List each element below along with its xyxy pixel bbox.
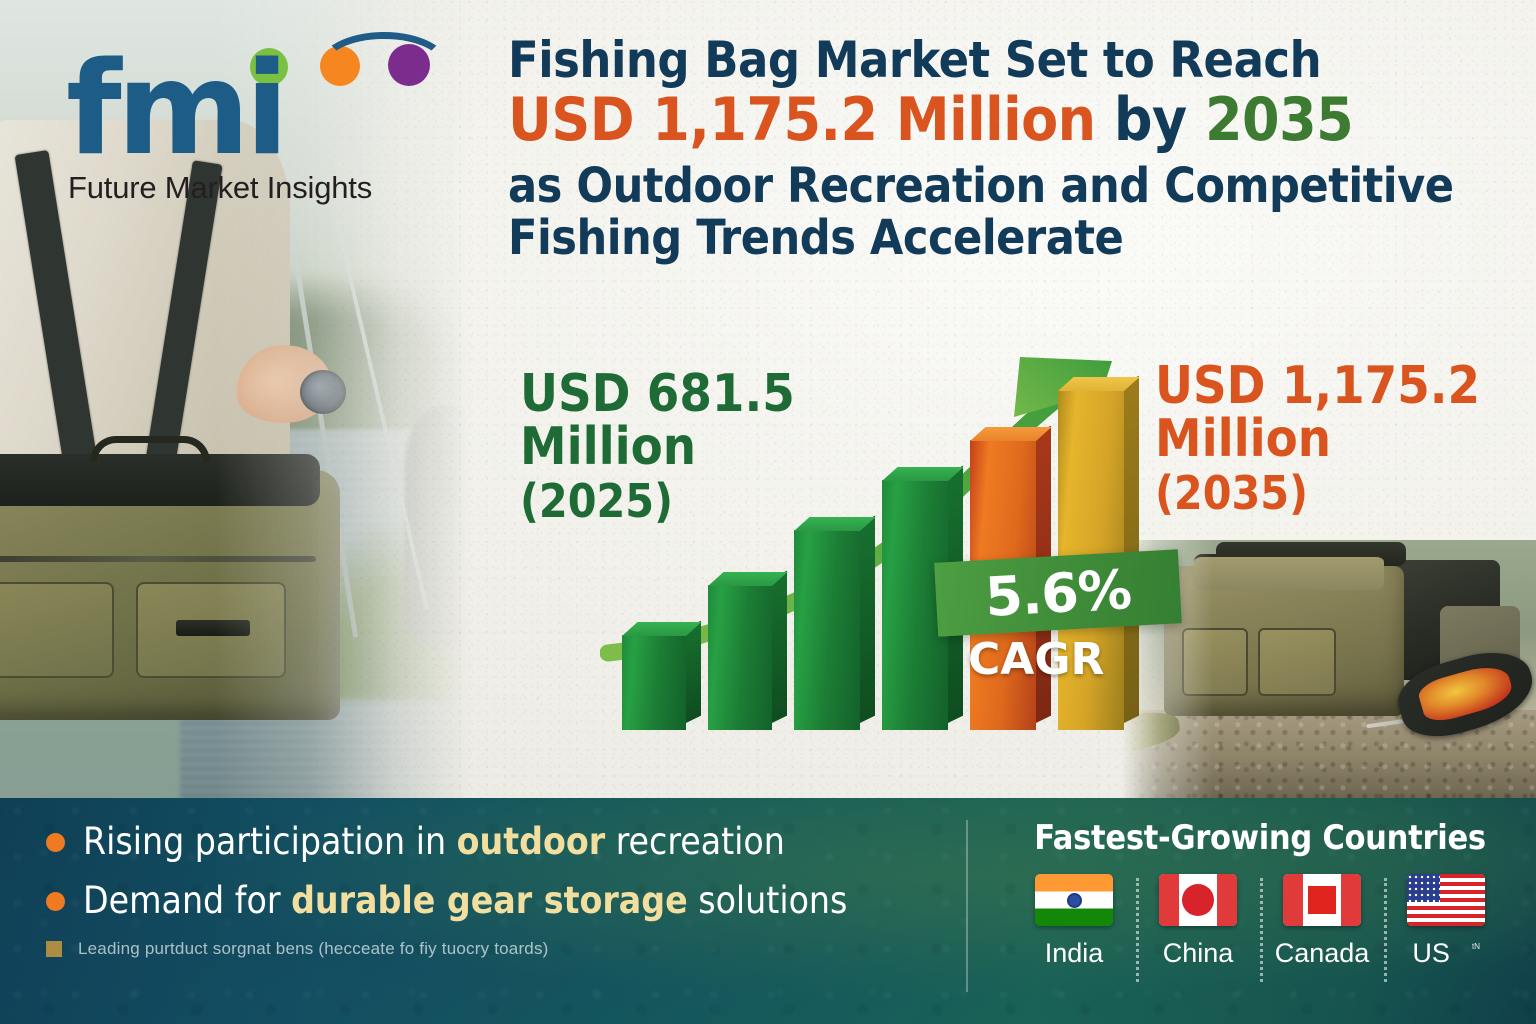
- key-drivers-list: Rising participation in outdoor recreati…: [46, 822, 946, 959]
- logo-subtitle: Future Market Insights: [68, 170, 372, 206]
- bar-face: [794, 530, 860, 730]
- country-label: India: [1045, 938, 1104, 969]
- bullet-1-highlight: outdoor: [457, 820, 606, 863]
- countries-title: Fastest-Growing Countries: [996, 818, 1524, 858]
- tackle-bag-lid: [1194, 554, 1384, 590]
- bullet-2-lead: Demand for: [83, 879, 291, 922]
- tackle-bag-handle: [90, 436, 210, 462]
- flag-emblem-icon: [1308, 886, 1336, 914]
- bullet-text: Rising participation in outdoor recreati…: [83, 822, 785, 863]
- bar-side: [772, 571, 787, 723]
- country-india[interactable]: India: [1012, 874, 1136, 969]
- fishing-reel-icon: [300, 370, 346, 414]
- country-label: USᵗᴺ: [1412, 938, 1479, 969]
- bar-2027: [708, 585, 772, 730]
- flag-bar-left: [1159, 874, 1179, 926]
- headline-block: Fishing Bag Market Set to Reach USD 1,17…: [508, 34, 1498, 264]
- china-flag-icon: [1159, 874, 1237, 926]
- bar-2025: [622, 635, 686, 730]
- fastest-growing-countries: Fastest-Growing Countries India China: [996, 818, 1524, 969]
- country-china[interactable]: China: [1136, 874, 1260, 969]
- bar-face: [622, 635, 686, 730]
- cagr-banner: 5.6%: [934, 549, 1182, 637]
- bullet-2-tail: solutions: [688, 879, 848, 922]
- ashoka-chakra-icon: [1067, 893, 1082, 908]
- lure-graphic: [1416, 660, 1516, 726]
- tackle-bag-pocket: [1258, 628, 1336, 696]
- headline-line-2: USD 1,175.2 Million by 2035: [508, 89, 1498, 153]
- country-label-text: US: [1412, 938, 1450, 968]
- photo-main-tackle-bag: [1164, 566, 1404, 716]
- bullet-text: Demand for durable gear storage solution…: [83, 881, 847, 922]
- bottom-band: Rising participation in outdoor recreati…: [0, 798, 1536, 1024]
- end-value-callout: USD 1,175.2 Million (2035): [1155, 360, 1505, 517]
- bullet-1-lead: Rising participation in: [83, 820, 457, 863]
- end-value-amount: USD 1,175.2: [1155, 356, 1480, 416]
- bar-side: [1124, 376, 1139, 723]
- logo-arc-icon: [318, 32, 450, 102]
- canada-flag-icon: [1283, 874, 1361, 926]
- tackle-bag-zipper: [0, 556, 316, 562]
- photo-tackle-bag: [0, 470, 340, 720]
- footnote-item: Leading purtduct sorgnat bens (hecceate …: [46, 939, 946, 959]
- flag-bar-left: [1283, 874, 1303, 926]
- us-flag-icon: [1407, 874, 1485, 926]
- photo-background-angler: [405, 405, 470, 645]
- flag-emblem-icon: [1185, 887, 1211, 913]
- flag-bar-right: [1217, 874, 1237, 926]
- footnote-square-icon: [46, 941, 62, 957]
- bar-2029: [794, 530, 860, 730]
- fmi-logo[interactable]: fmi Future Market Insights: [60, 22, 450, 208]
- footnote-text: Leading purtduct sorgnat bens (hecceate …: [78, 939, 549, 959]
- bullet-dot-icon: [46, 892, 65, 911]
- tackle-bag-pocket: [0, 582, 114, 678]
- bar-side: [860, 516, 875, 723]
- flag-bar-right: [1341, 874, 1361, 926]
- cagr-label: CAGR: [968, 634, 1104, 685]
- bar-side: [686, 621, 701, 723]
- infographic-root: fmi Future Market Insights Fishing Bag M…: [0, 0, 1536, 1024]
- logo-wordmark: fmi: [66, 46, 284, 174]
- section-divider: [966, 820, 968, 992]
- headline-connector: by: [1114, 85, 1187, 155]
- end-value-year: (2035): [1155, 470, 1505, 517]
- country-us[interactable]: USᵗᴺ: [1384, 874, 1508, 969]
- headline-value: USD 1,175.2 Million: [508, 85, 1096, 155]
- country-label: Canada: [1275, 938, 1370, 969]
- flags-row: India China Canada: [996, 874, 1524, 969]
- headline-line-4: Fishing Trends Accelerate: [508, 213, 1498, 264]
- list-item: Rising participation in outdoor recreati…: [46, 822, 946, 863]
- country-label-superscript: ᵗᴺ: [1472, 941, 1480, 955]
- headline-line-1: Fishing Bag Market Set to Reach: [508, 34, 1498, 87]
- country-canada[interactable]: Canada: [1260, 874, 1384, 969]
- bar-face: [708, 585, 772, 730]
- cagr-value: 5.6%: [983, 557, 1132, 628]
- bullet-dot-icon: [46, 833, 65, 852]
- headline-line-3: as Outdoor Recreation and Competitive: [508, 161, 1498, 212]
- cagr-badge: 5.6% CAGR: [936, 556, 1186, 630]
- end-value-unit: Million: [1155, 409, 1331, 469]
- tackle-bag-pocket: [1182, 628, 1248, 696]
- tackle-bag-label: [176, 620, 250, 636]
- bullet-1-tail: recreation: [605, 820, 785, 863]
- flag-canton-stars: [1407, 874, 1440, 902]
- india-flag-icon: [1035, 874, 1113, 926]
- country-label: China: [1163, 938, 1234, 969]
- list-item: Demand for durable gear storage solution…: [46, 881, 946, 922]
- headline-year: 2035: [1205, 85, 1353, 155]
- bullet-2-highlight: durable gear storage: [291, 879, 688, 922]
